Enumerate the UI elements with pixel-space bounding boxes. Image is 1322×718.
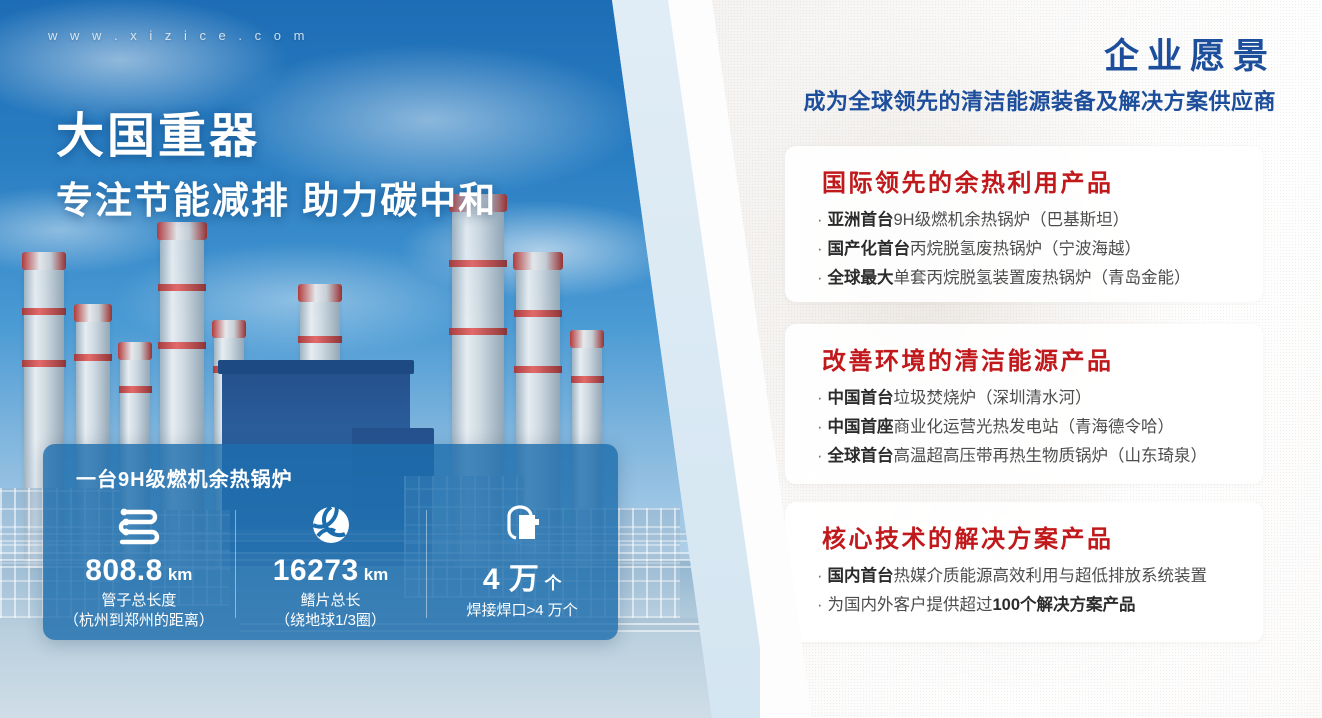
list-item: ·全球最大单套丙烷脱氢装置废热锅炉（青岛金能） xyxy=(817,264,1245,293)
page-subtitle: 成为全球领先的清洁能源装备及解决方案供应商 xyxy=(803,84,1276,116)
bullet-dot-icon: · xyxy=(817,240,823,258)
globe-icon xyxy=(309,502,353,548)
stat-number: 4 万 xyxy=(483,563,540,596)
stat-unit: km xyxy=(364,565,389,584)
bullet-strong: 国内首台 xyxy=(828,567,894,585)
stat-label-pipe-length: 管子总长度 （杭州到郑州的距离） xyxy=(64,591,214,632)
list-item: ·亚洲首台9H级燃机余热锅炉（巴基斯坦） xyxy=(817,206,1245,235)
card-title: 国际领先的余热利用产品 xyxy=(822,163,1114,198)
stat-label-line2: （杭州到郑州的距离） xyxy=(64,611,214,631)
bullet-rest: 垃圾焚烧炉（深圳清水河） xyxy=(894,389,1092,407)
stat-item-pipe-length: 808.8km 管子总长度 （杭州到郑州的距离） xyxy=(43,500,235,632)
bullet-strong: 中国首座 xyxy=(828,418,894,436)
list-item: ·为国内外客户提供超过100个解决方案产品 xyxy=(817,591,1245,620)
card-title: 核心技术的解决方案产品 xyxy=(822,519,1114,554)
bullet-rest: 为国内外客户提供超过 xyxy=(828,596,993,614)
vision-card-3: 核心技术的解决方案产品 ·国内首台热媒介质能源高效利用与超低排放系统装置 ·为国… xyxy=(785,502,1263,642)
list-item: ·全球首台高温超高压带再热生物质锅炉（山东琦泉） xyxy=(817,442,1245,471)
left-photo-panel: w w w . x i z i c e . c o m 大国重器 专注节能减排 … xyxy=(0,0,716,718)
list-item: ·中国首座商业化运营光热发电站（青海德令哈） xyxy=(817,413,1245,442)
stat-label-weld-count: 焊接焊口>4 万个 xyxy=(467,601,578,621)
bullet-strong: 亚洲首台 xyxy=(828,211,894,229)
vision-card-2: 改善环境的清洁能源产品 ·中国首台垃圾焚烧炉（深圳清水河） ·中国首座商业化运营… xyxy=(785,324,1263,484)
stat-label-line1: 管子总长度 xyxy=(101,592,176,609)
headline-text: 大国重器 xyxy=(56,96,260,166)
bullet-dot-icon: · xyxy=(817,418,823,436)
site-watermark: w w w . x i z i c e . c o m xyxy=(48,28,309,43)
bullet-strong-2: 100个解决方案产品 xyxy=(993,596,1136,614)
list-item: ·国内首台热媒介质能源高效利用与超低排放系统装置 xyxy=(817,562,1245,591)
bullet-rest: 商业化运营光热发电站（青海德令哈） xyxy=(894,418,1175,436)
stat-value-weld-count: 4 万个 xyxy=(483,554,562,598)
stat-value-fin-length: 16273km xyxy=(273,554,389,588)
stat-item-fin-length: 16273km 鳍片总长 （绕地球1/3圈） xyxy=(235,500,427,632)
welder-mask-icon xyxy=(499,502,545,548)
card-title: 改善环境的清洁能源产品 xyxy=(822,341,1114,376)
stats-panel-title: 一台9H级燃机余热锅炉 xyxy=(76,463,293,492)
bullet-rest: 丙烷脱氢废热锅炉（宁波海越） xyxy=(910,240,1141,258)
slide-root: w w w . x i z i c e . c o m 大国重器 专注节能减排 … xyxy=(0,0,1322,718)
stat-label-line2: （绕地球1/3圈） xyxy=(275,611,386,631)
bullet-strong: 中国首台 xyxy=(828,389,894,407)
bullet-dot-icon: · xyxy=(817,211,823,229)
vision-card-1: 国际领先的余热利用产品 ·亚洲首台9H级燃机余热锅炉（巴基斯坦） ·国产化首台丙… xyxy=(785,146,1263,302)
subheadline-text: 专注节能减排 助力碳中和 xyxy=(56,170,497,224)
bullet-rest: 热媒介质能源高效利用与超低排放系统装置 xyxy=(894,567,1208,585)
bullet-dot-icon: · xyxy=(817,389,823,407)
bullet-dot-icon: · xyxy=(817,447,823,465)
stat-unit: 个 xyxy=(544,574,561,593)
stat-unit: km xyxy=(168,565,193,584)
stat-item-weld-count: 4 万个 焊接焊口>4 万个 xyxy=(426,500,618,632)
bullet-strong: 国产化首台 xyxy=(828,240,911,258)
stat-label-fin-length: 鳍片总长 （绕地球1/3圈） xyxy=(275,591,386,632)
stats-row: 808.8km 管子总长度 （杭州到郑州的距离） xyxy=(43,500,618,632)
list-item: ·中国首台垃圾焚烧炉（深圳清水河） xyxy=(817,384,1245,413)
stat-label-line1: 鳍片总长 xyxy=(301,592,361,609)
stat-number: 808.8 xyxy=(85,554,163,587)
page-title: 企业愿景 xyxy=(1104,28,1276,79)
bullet-strong: 全球首台 xyxy=(828,447,894,465)
bullet-rest: 单套丙烷脱氢装置废热锅炉（青岛金能） xyxy=(894,269,1191,287)
bullet-dot-icon: · xyxy=(817,596,823,614)
bullet-rest: 高温超高压带再热生物质锅炉（山东琦泉） xyxy=(894,447,1208,465)
bullet-dot-icon: · xyxy=(817,269,823,287)
bullet-dot-icon: · xyxy=(817,567,823,585)
card-bullet-list: ·亚洲首台9H级燃机余热锅炉（巴基斯坦） ·国产化首台丙烷脱氢废热锅炉（宁波海越… xyxy=(817,206,1245,293)
bullet-strong: 全球最大 xyxy=(828,269,894,287)
stat-number: 16273 xyxy=(273,554,359,587)
card-bullet-list: ·中国首台垃圾焚烧炉（深圳清水河） ·中国首座商业化运营光热发电站（青海德令哈）… xyxy=(817,384,1245,471)
stats-panel: 一台9H级燃机余热锅炉 808.8km xyxy=(43,444,618,640)
bullet-rest: 9H级燃机余热锅炉（巴基斯坦） xyxy=(894,211,1130,229)
coil-pipe-icon xyxy=(112,502,166,548)
stat-value-pipe-length: 808.8km xyxy=(85,554,192,588)
stat-label-line1: 焊接焊口>4 万个 xyxy=(467,602,578,619)
list-item: ·国产化首台丙烷脱氢废热锅炉（宁波海越） xyxy=(817,235,1245,264)
card-bullet-list: ·国内首台热媒介质能源高效利用与超低排放系统装置 ·为国内外客户提供超过100个… xyxy=(817,562,1245,620)
